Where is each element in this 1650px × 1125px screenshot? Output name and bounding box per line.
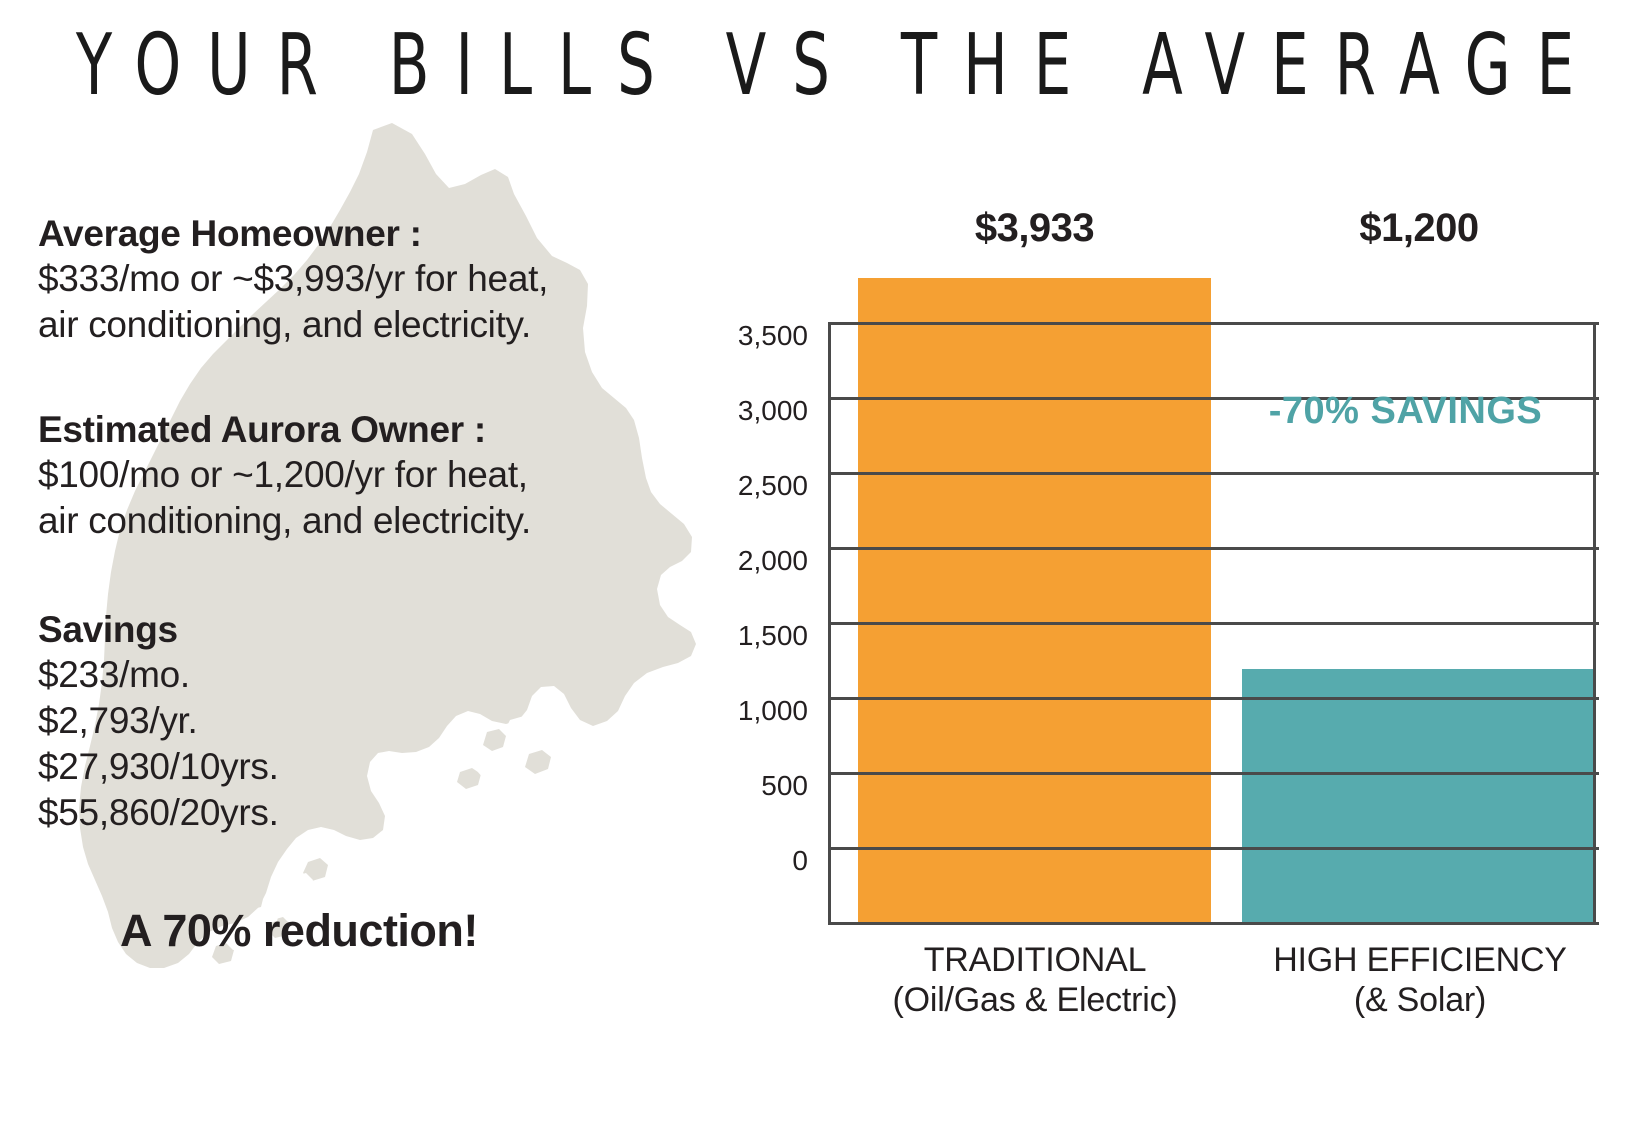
gridline-2750 <box>828 472 1599 475</box>
gridline-1250 <box>828 697 1599 700</box>
y-tick-2500: 2,500 <box>688 472 808 500</box>
gridline-2250 <box>828 547 1599 550</box>
y-tick-3500: 3,500 <box>688 322 808 350</box>
y-tick-2000: 2,000 <box>688 547 808 575</box>
y-tick-1500: 1,500 <box>688 622 808 650</box>
y-tick-1000: 1,000 <box>688 697 808 725</box>
bar-value-traditional: $3,933 <box>858 206 1211 251</box>
y-tick-3000: 3,000 <box>688 397 808 425</box>
axis-baseline <box>828 922 1599 925</box>
y-axis-tick-labels: 3,500 3,000 2,500 2,000 1,500 1,000 500 … <box>680 0 808 1125</box>
category-label-high-efficiency: HIGH EFFICIENCY (& Solar) <box>1190 940 1650 1020</box>
category-label-high-efficiency-main: HIGH EFFICIENCY <box>1273 941 1567 979</box>
gridline-250 <box>828 847 1599 850</box>
bar-value-high-efficiency: $1,200 <box>1242 206 1596 251</box>
gridline-1750 <box>828 622 1599 625</box>
y-tick-0: 0 <box>688 847 808 875</box>
gridline-3750 <box>828 322 1599 325</box>
bar-chart: 3,500 3,000 2,500 2,000 1,500 1,000 500 … <box>0 0 1650 1125</box>
category-label-high-efficiency-sub: (& Solar) <box>1190 980 1650 1020</box>
category-label-traditional-main: TRADITIONAL <box>924 941 1147 979</box>
savings-annotation: -70% SAVINGS <box>1215 390 1596 433</box>
y-tick-500: 500 <box>688 772 808 800</box>
gridline-750 <box>828 772 1599 775</box>
